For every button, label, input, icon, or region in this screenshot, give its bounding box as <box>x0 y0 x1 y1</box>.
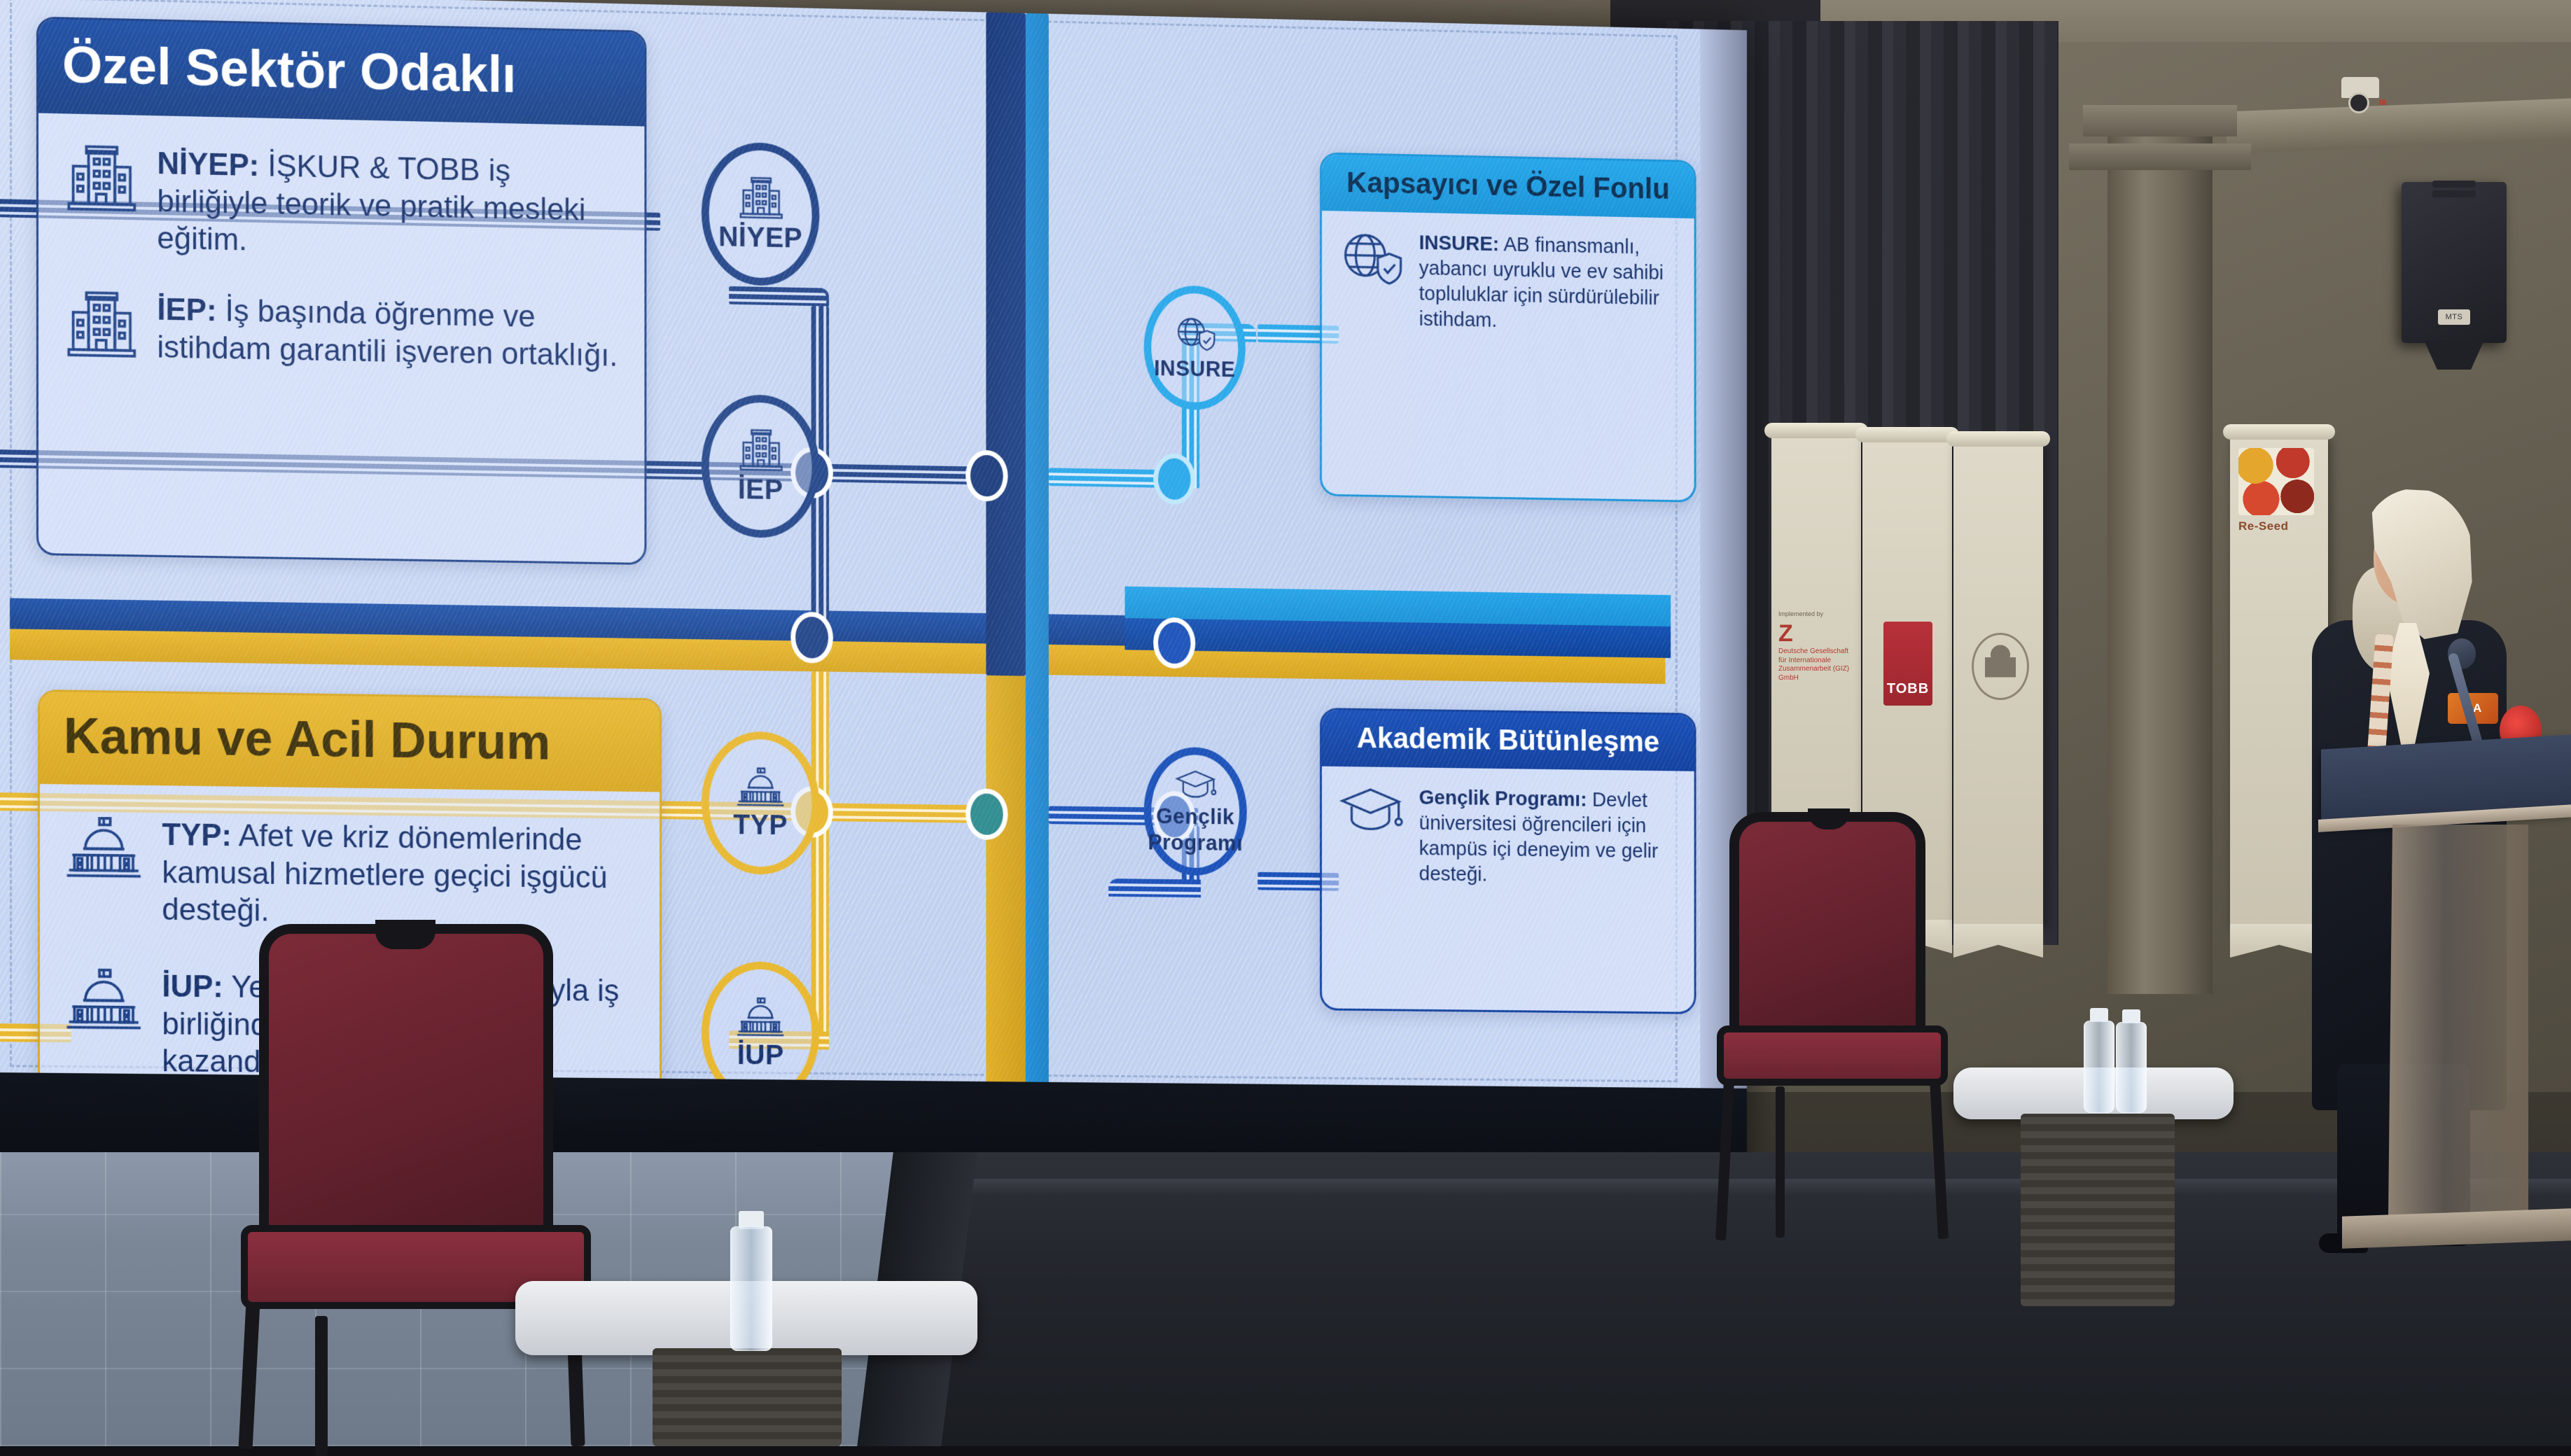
road-trunk-navy-vertical <box>986 13 1025 676</box>
giz-pre-label: Implemented by <box>1778 610 1855 617</box>
chair-leg <box>315 1316 328 1456</box>
bottle-body <box>730 1226 772 1351</box>
panel-item: İEP: İş başında öğrenme ve istihdam gara… <box>62 289 621 374</box>
road-trunk-gold-vertical <box>986 675 1025 1102</box>
office-building-icon <box>62 143 139 218</box>
panel-item-text: NİYEP: İŞKUR & TOBB iş birliğiyle teorik… <box>157 145 621 267</box>
chair-leg <box>1715 1079 1734 1240</box>
panel-item-body: İş başında öğrenme ve istihdam garantili… <box>157 293 618 372</box>
road-iep-to-hub <box>829 464 986 485</box>
government-building-icon <box>64 967 144 1035</box>
panel-item-text: İEP: İş başında öğrenme ve istihdam gara… <box>157 291 621 374</box>
wall-speaker: MTS <box>2402 182 2507 343</box>
flow-node-label: INSURE <box>1154 358 1235 381</box>
side-table-base <box>653 1348 842 1446</box>
tobb-mark: TOBB <box>1887 681 1929 697</box>
pillar-capital-upper <box>2083 105 2237 136</box>
chair-leg <box>1776 1086 1785 1238</box>
road-trunk-cyan-vertical <box>1026 13 1049 1102</box>
giz-logo: Implemented by Z Deutsche Gesellschaft f… <box>1778 610 1855 682</box>
panel-ozel-sektor-odakli: Özel Sektör Odaklı <box>36 17 646 566</box>
panel-item: NİYEP: İŞKUR & TOBB iş birliğiyle teorik… <box>62 143 621 267</box>
flow-node-label: İUP <box>737 1041 784 1070</box>
hub-gold-2 <box>966 788 1008 840</box>
office-building-icon <box>62 289 139 364</box>
office-building-icon <box>737 428 785 472</box>
panel-item-term: İEP: <box>157 293 216 328</box>
reseed-mosaic-icon <box>2238 448 2314 515</box>
panel-title: Özel Sektör Odaklı <box>39 19 645 127</box>
giz-mark: Z <box>1778 622 1855 645</box>
office-building-icon <box>737 176 785 220</box>
globe-shield-icon <box>1338 229 1402 332</box>
panel-item-term: INSURE: <box>1419 232 1500 255</box>
podium-base <box>2342 1208 2571 1248</box>
flow-node-iep[interactable]: İEP <box>702 394 819 539</box>
hub-navy-3 <box>790 612 833 664</box>
chair-leg <box>239 1302 260 1450</box>
graduation-cap-icon <box>1338 784 1402 887</box>
bottle-body <box>2116 1022 2147 1113</box>
government-building-icon <box>64 815 144 883</box>
wall-speaker-label: MTS <box>2438 309 2470 325</box>
government-building-icon <box>735 997 786 1037</box>
pillar-capital-lower <box>2069 143 2251 170</box>
graduation-cap-icon <box>1174 769 1216 802</box>
panel-akademik-butunlesme: Akademik Bütünleşme Gençlik Programı: De… <box>1320 708 1696 1014</box>
panel-item-text: INSURE: AB finansmanlı, yabancı uyruklu … <box>1419 230 1678 337</box>
flow-node-label: NİYEP <box>718 223 802 253</box>
hub-navy-2 <box>966 450 1008 502</box>
giz-sub-label: Deutsche Gesellschaft für Internationale… <box>1778 647 1855 682</box>
wall-pillar <box>2107 105 2213 994</box>
flow-node-typ[interactable]: TYP <box>702 731 819 875</box>
panel-item-term: NİYEP: <box>157 146 259 183</box>
flow-node-label: İEP <box>738 475 783 504</box>
flow-node-genclik-programi[interactable]: Gençlik Programı <box>1144 747 1247 876</box>
banner-rail <box>1855 427 1959 442</box>
panel-item-term: TYP: <box>162 818 232 853</box>
road-blue-elbow <box>1108 878 1201 897</box>
panel-item-text: TYP: Afet ve kriz dönemlerinde kamusal h… <box>162 816 636 934</box>
podium-column <box>2388 825 2528 1217</box>
road-typ-to-hub <box>829 803 986 823</box>
chair-backrest <box>259 924 553 1246</box>
panel-title: Akademik Bütünleşme <box>1322 710 1694 771</box>
flow-node-label-line1: Gençlik <box>1156 806 1234 829</box>
chair-backrest-notch <box>375 920 436 949</box>
water-bottle[interactable] <box>723 1211 780 1351</box>
hub-blue-1 <box>1153 617 1195 669</box>
globe-shield-icon <box>1173 315 1215 354</box>
water-bottle[interactable] <box>2110 1009 2152 1113</box>
side-table-base <box>2021 1114 2175 1306</box>
bottle-cap <box>2122 1009 2140 1023</box>
road-niyep-out <box>729 286 811 306</box>
cctv-camera-icon <box>2339 77 2382 118</box>
hub-cyan-1 <box>1153 453 1195 505</box>
flow-node-label-line2: Programı <box>1148 832 1243 855</box>
podium <box>2321 742 2571 1274</box>
banner-rail <box>1764 423 1868 438</box>
banner-rail <box>1946 431 2050 447</box>
panel-item: TYP: Afet ve kriz dönemlerinde kamusal h… <box>64 815 636 934</box>
tobb-logo: TOBB <box>1883 622 1932 706</box>
panel-kapsayici-ve-ozel-fonlu: Kapsayıcı ve Özel Fonlu INSURE: AB finan… <box>1320 152 1696 502</box>
panel-title: Kamu ve Acil Durum <box>40 692 660 792</box>
bottle-cap <box>2090 1008 2108 1022</box>
panel-title: Kapsayıcı ve Özel Fonlu <box>1322 154 1694 218</box>
panel-item-text: Gençlik Programı: Devlet üniversitesi öğ… <box>1419 785 1678 890</box>
panel-item-term: Gençlik Programı: <box>1419 787 1587 811</box>
university-seal-icon <box>1972 633 2029 700</box>
chair-backrest <box>1729 812 1925 1043</box>
government-building-icon <box>735 766 786 807</box>
chair-leg <box>1930 1079 1949 1239</box>
chair-seat <box>1717 1025 1948 1086</box>
flow-node-label: TYP <box>733 811 788 839</box>
banner-rail <box>2223 424 2335 440</box>
flow-node-insure[interactable]: INSURE <box>1144 285 1246 411</box>
